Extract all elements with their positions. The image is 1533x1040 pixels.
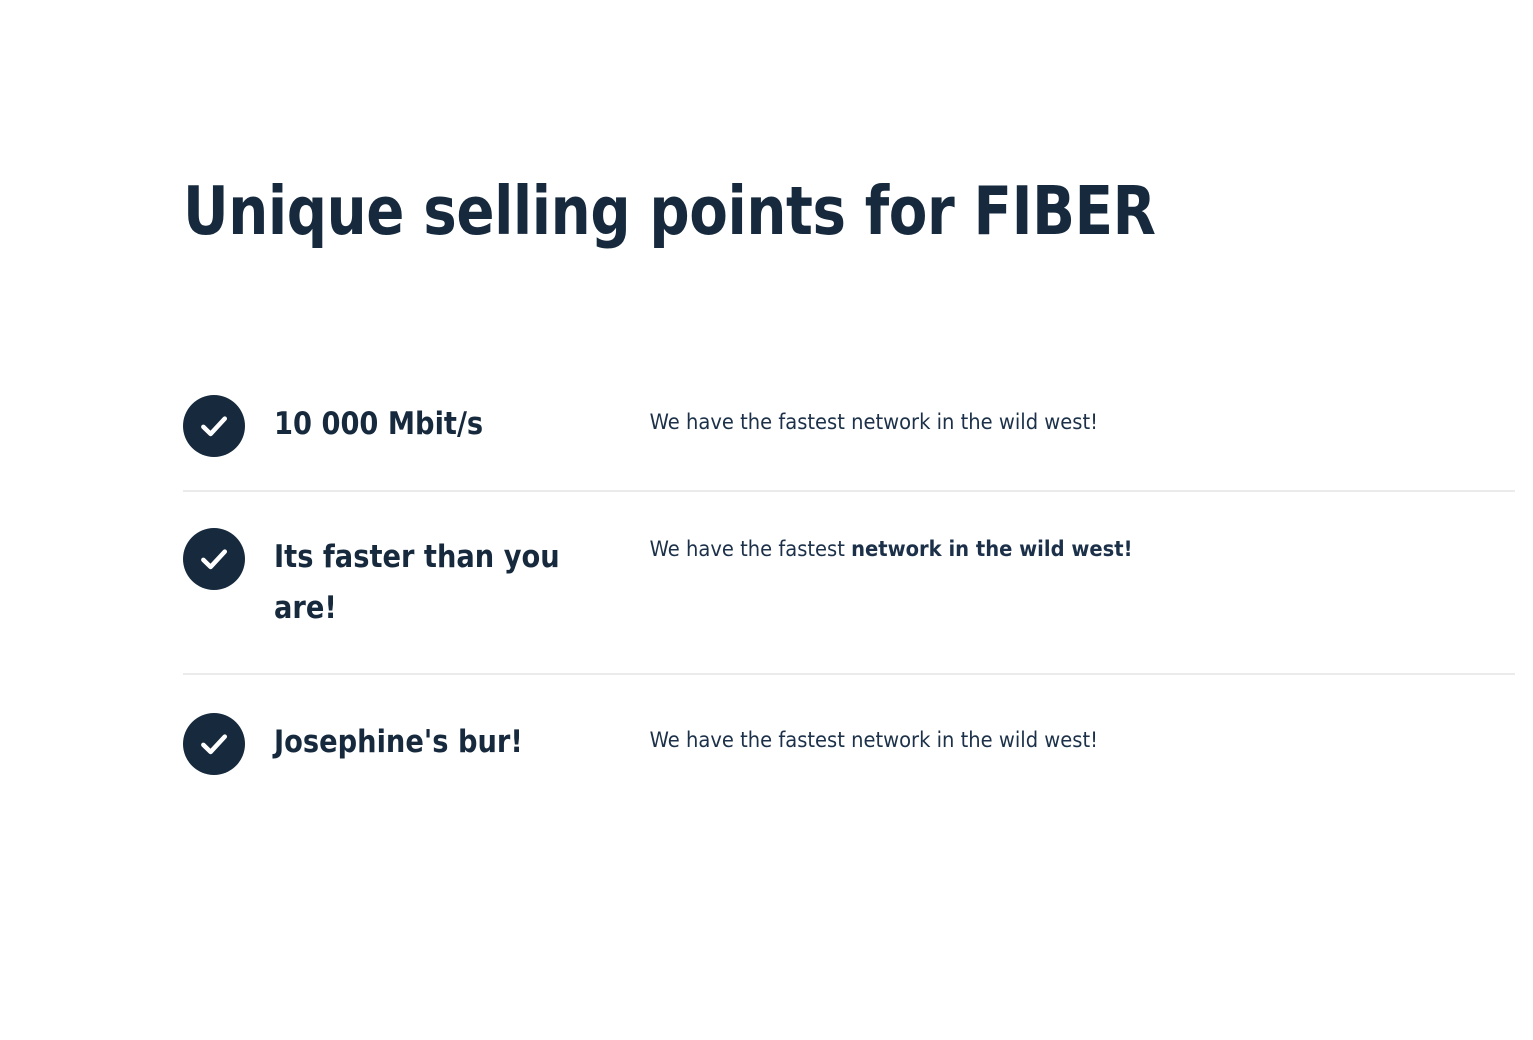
usp-description-text: We have the fastest	[650, 537, 852, 561]
usp-item-title: Its faster than you are!	[274, 528, 600, 633]
usp-item-description: We have the fastest network in the wild …	[644, 528, 1454, 564]
usp-description-text: We have the fastest network in the wild …	[650, 410, 1098, 434]
usp-row-content: Its faster than you are! We have the fas…	[183, 492, 1515, 673]
check-circle-icon	[183, 395, 245, 457]
usp-row-content: 10 000 Mbit/s We have the fastest networ…	[183, 369, 1515, 490]
check-circle-icon	[183, 528, 245, 590]
usp-item-title: 10 000 Mbit/s	[274, 395, 600, 450]
list-item: 10 000 Mbit/s We have the fastest networ…	[183, 369, 1515, 490]
check-circle-icon	[183, 713, 245, 775]
usp-description-text: We have the fastest network in the wild …	[650, 728, 1098, 752]
usp-section: Unique selling points for FIBER 10 000 M…	[183, 175, 1515, 803]
usp-row-content: Josephine's bur! We have the fastest net…	[183, 675, 1515, 803]
list-item: Its faster than you are! We have the fas…	[183, 490, 1515, 673]
list-item: Josephine's bur! We have the fastest net…	[183, 673, 1515, 803]
page-root: Unique selling points for FIBER 10 000 M…	[0, 0, 1533, 1040]
usp-item-description: We have the fastest network in the wild …	[644, 713, 1454, 755]
usp-list: 10 000 Mbit/s We have the fastest networ…	[183, 369, 1515, 803]
page-title: Unique selling points for FIBER	[183, 175, 1302, 247]
usp-item-description: We have the fastest network in the wild …	[644, 395, 1454, 437]
usp-description-emphasis: network in the wild west!	[851, 537, 1132, 561]
usp-item-title: Josephine's bur!	[274, 713, 600, 768]
